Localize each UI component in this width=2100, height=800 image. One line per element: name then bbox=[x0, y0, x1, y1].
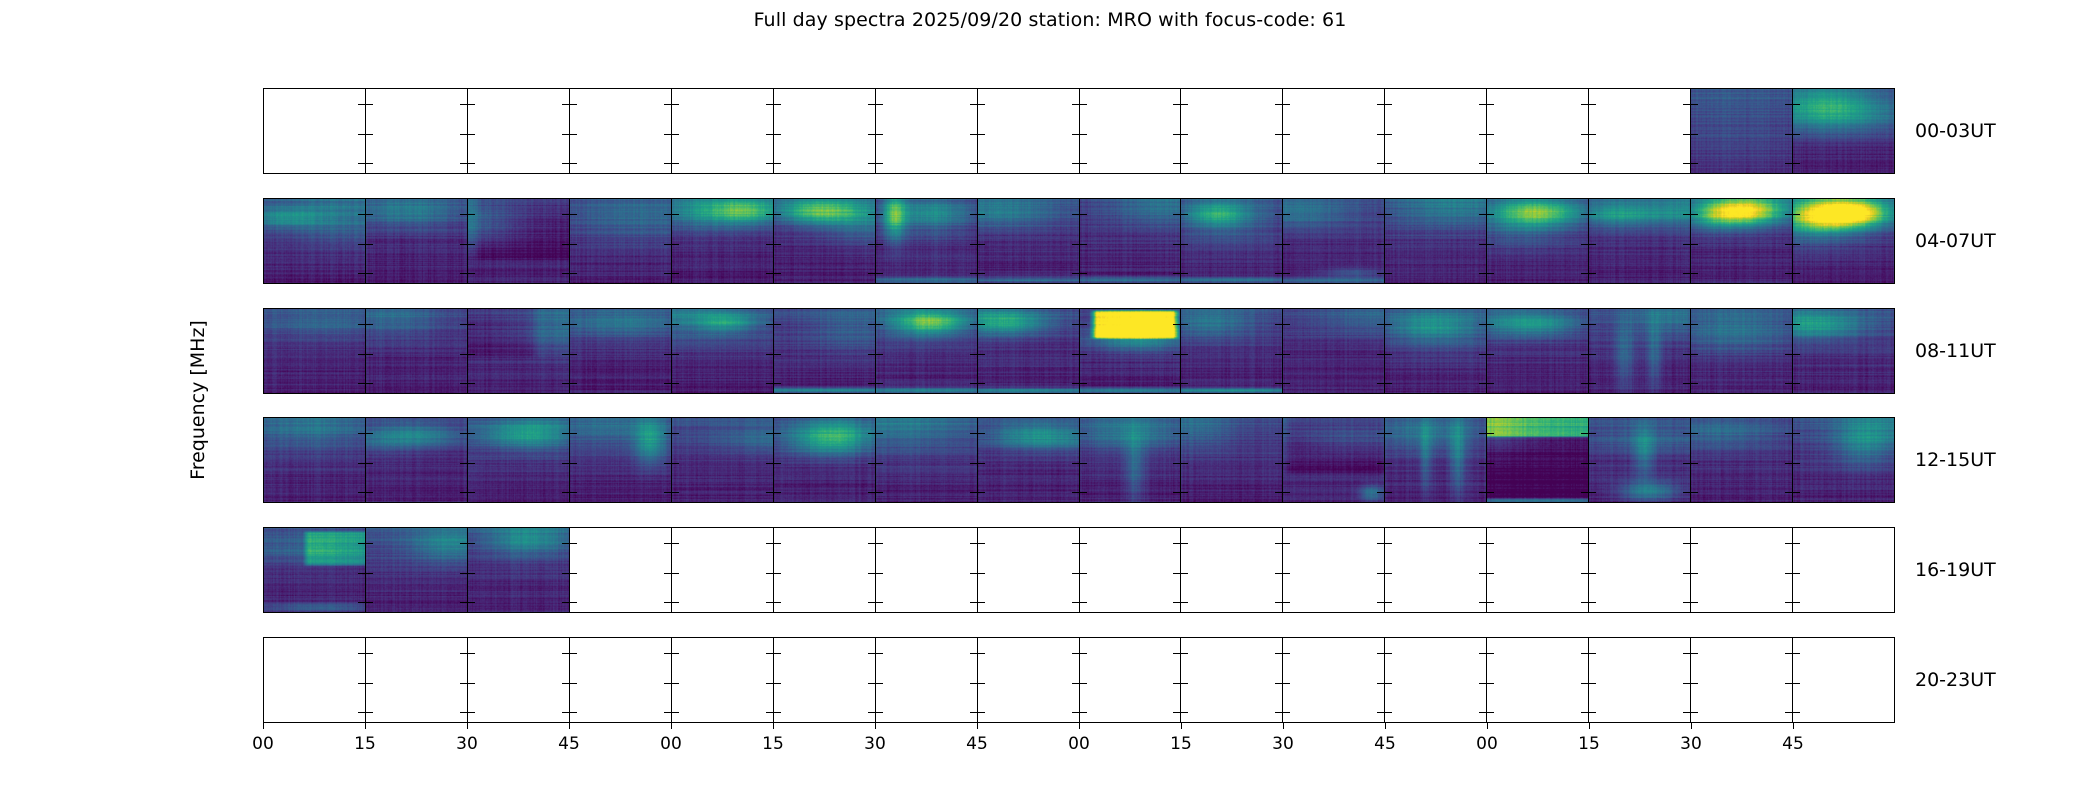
spectrogram-panel[interactable] bbox=[1690, 309, 1792, 393]
x-axis-tick-label: 00 bbox=[252, 734, 274, 754]
x-axis-tick bbox=[467, 723, 468, 729]
x-axis-tick bbox=[365, 723, 366, 729]
y-axis-inner-tick bbox=[664, 134, 671, 135]
spectrogram-panel[interactable] bbox=[773, 638, 875, 722]
y-axis-inner-tick bbox=[1793, 324, 1800, 325]
spectrogram-panel[interactable] bbox=[264, 638, 365, 722]
x-axis-tick-label: 15 bbox=[762, 734, 784, 754]
spectrogram-panel[interactable] bbox=[569, 638, 671, 722]
y-axis-inner-tick bbox=[1683, 712, 1690, 713]
y-axis-inner-tick bbox=[664, 324, 671, 325]
y-axis-inner-tick bbox=[1785, 244, 1792, 245]
spectrogram-panel[interactable] bbox=[1792, 199, 1894, 283]
spectrogram-panel[interactable] bbox=[1690, 528, 1792, 612]
y-axis-inner-tick bbox=[1275, 683, 1282, 684]
spectrogram-panel[interactable] bbox=[264, 199, 365, 283]
spectrogram-panel[interactable] bbox=[1792, 418, 1894, 502]
spectrogram-panel[interactable] bbox=[365, 89, 467, 173]
y-axis-inner-tick bbox=[1181, 104, 1188, 105]
spectrogram-panel[interactable] bbox=[977, 89, 1079, 173]
y-axis-inner-tick bbox=[1181, 383, 1188, 384]
spectrogram-panel[interactable] bbox=[1079, 638, 1181, 722]
y-axis-inner-tick bbox=[774, 653, 781, 654]
spectrogram-image bbox=[672, 418, 773, 502]
y-axis-inner-tick bbox=[1173, 492, 1180, 493]
y-axis-inner-tick bbox=[366, 602, 373, 603]
y-axis-inner-tick bbox=[366, 104, 373, 105]
spectrogram-panel[interactable] bbox=[1588, 638, 1690, 722]
y-axis-inner-tick bbox=[1377, 492, 1384, 493]
spectrogram-panel[interactable] bbox=[264, 418, 365, 502]
y-axis-inner-tick bbox=[1173, 324, 1180, 325]
y-axis-inner-tick bbox=[970, 104, 977, 105]
y-axis-inner-tick bbox=[774, 134, 781, 135]
y-axis-inner-tick bbox=[1589, 214, 1596, 215]
y-axis-inner-tick bbox=[1683, 383, 1690, 384]
spectrogram-panel[interactable] bbox=[1588, 199, 1690, 283]
y-axis-inner-tick bbox=[1181, 433, 1188, 434]
y-axis-inner-tick bbox=[1275, 653, 1282, 654]
spectrogram-image bbox=[570, 309, 671, 393]
spectrogram-panel[interactable] bbox=[1486, 418, 1588, 502]
spectrogram-panel[interactable] bbox=[1384, 89, 1486, 173]
spectrogram-panel[interactable] bbox=[467, 309, 569, 393]
spectrogram-panel[interactable] bbox=[977, 199, 1079, 283]
y-axis-inner-tick bbox=[366, 383, 373, 384]
y-axis-inner-tick bbox=[876, 543, 883, 544]
x-axis-tick-label: 00 bbox=[660, 734, 682, 754]
y-axis-inner-tick bbox=[562, 712, 569, 713]
y-axis-inner-tick bbox=[1173, 602, 1180, 603]
spectrogram-panel[interactable] bbox=[1384, 199, 1486, 283]
y-axis-inner-tick bbox=[1581, 573, 1588, 574]
y-axis-inner-tick bbox=[868, 602, 875, 603]
y-axis-tick bbox=[263, 683, 264, 684]
spectrogram-row-16-19ut: 255075 bbox=[263, 527, 1895, 613]
spectrogram-image bbox=[1181, 199, 1282, 283]
spectrogram-panel[interactable] bbox=[1384, 309, 1486, 393]
spectrogram-image bbox=[1283, 199, 1384, 283]
y-axis-inner-tick bbox=[1181, 683, 1188, 684]
y-axis-inner-tick bbox=[774, 602, 781, 603]
y-axis-inner-tick bbox=[460, 653, 467, 654]
y-axis-tick bbox=[263, 543, 264, 544]
spectrogram-panel[interactable] bbox=[1079, 418, 1181, 502]
y-axis-inner-tick bbox=[1691, 273, 1698, 274]
spectrogram-panel[interactable] bbox=[875, 638, 977, 722]
spectrogram-panel[interactable] bbox=[467, 199, 569, 283]
spectrogram-panel[interactable] bbox=[1792, 309, 1894, 393]
y-axis-inner-tick bbox=[1181, 543, 1188, 544]
y-axis-inner-tick bbox=[1080, 214, 1087, 215]
y-axis-inner-tick bbox=[1487, 244, 1494, 245]
y-axis-inner-tick bbox=[1080, 463, 1087, 464]
y-axis-inner-tick bbox=[1283, 354, 1290, 355]
y-axis-inner-tick bbox=[978, 653, 985, 654]
y-axis-inner-tick bbox=[876, 683, 883, 684]
y-axis-inner-tick bbox=[366, 543, 373, 544]
spectrogram-panel[interactable] bbox=[875, 309, 977, 393]
y-axis-inner-tick bbox=[1581, 602, 1588, 603]
spectrogram-panel[interactable] bbox=[1384, 528, 1486, 612]
y-axis-inner-tick bbox=[876, 492, 883, 493]
spectrogram-panel[interactable] bbox=[467, 89, 569, 173]
y-axis-inner-tick bbox=[1080, 433, 1087, 434]
spectrogram-panel[interactable] bbox=[671, 418, 773, 502]
y-axis-inner-tick bbox=[1181, 134, 1188, 135]
spectrogram-image bbox=[978, 199, 1079, 283]
y-axis-inner-tick bbox=[876, 324, 883, 325]
y-axis-inner-tick bbox=[562, 324, 569, 325]
y-axis-inner-tick bbox=[562, 683, 569, 684]
y-axis-inner-tick bbox=[460, 244, 467, 245]
y-axis-inner-tick bbox=[970, 433, 977, 434]
spectrogram-panel[interactable] bbox=[1079, 199, 1181, 283]
y-axis-inner-tick bbox=[672, 244, 679, 245]
spectrogram-image bbox=[1691, 418, 1792, 502]
y-axis-inner-tick bbox=[1487, 383, 1494, 384]
spectrogram-panel[interactable] bbox=[671, 309, 773, 393]
y-axis-inner-tick bbox=[1581, 433, 1588, 434]
spectrogram-panel[interactable] bbox=[1180, 89, 1282, 173]
y-axis-inner-tick bbox=[1589, 463, 1596, 464]
spectrogram-panel[interactable] bbox=[1282, 418, 1384, 502]
spectrogram-panel[interactable] bbox=[264, 528, 365, 612]
spectrogram-panel[interactable] bbox=[977, 638, 1079, 722]
spectrogram-panel[interactable] bbox=[773, 418, 875, 502]
y-axis-inner-tick bbox=[1080, 653, 1087, 654]
y-axis-inner-tick bbox=[468, 573, 475, 574]
y-axis-inner-tick bbox=[366, 163, 373, 164]
spectrogram-panel[interactable] bbox=[1282, 528, 1384, 612]
spectrogram-panel[interactable] bbox=[1690, 199, 1792, 283]
spectrogram-panel[interactable] bbox=[977, 309, 1079, 393]
spectrogram-panel[interactable] bbox=[569, 199, 671, 283]
spectrogram-panel[interactable] bbox=[1282, 309, 1384, 393]
y-axis-inner-tick bbox=[1072, 712, 1079, 713]
spectrogram-panel[interactable] bbox=[467, 528, 569, 612]
y-axis-inner-tick bbox=[468, 354, 475, 355]
spectrogram-panel[interactable] bbox=[569, 309, 671, 393]
spectrogram-panel[interactable] bbox=[1690, 89, 1792, 173]
y-axis-inner-tick bbox=[1793, 573, 1800, 574]
y-axis-inner-tick bbox=[1487, 324, 1494, 325]
y-axis-inner-tick bbox=[766, 354, 773, 355]
y-axis-inner-tick bbox=[562, 573, 569, 574]
spectrogram-image bbox=[876, 199, 977, 283]
spectrogram-figure: Full day spectra 2025/09/20 station: MRO… bbox=[0, 0, 2100, 800]
y-axis-inner-tick bbox=[570, 273, 577, 274]
y-axis-inner-tick bbox=[766, 244, 773, 245]
y-axis-inner-tick bbox=[1385, 683, 1392, 684]
y-axis-inner-tick bbox=[1691, 543, 1698, 544]
y-axis-inner-tick bbox=[978, 492, 985, 493]
y-axis-inner-tick bbox=[1377, 383, 1384, 384]
spectrogram-panel[interactable] bbox=[1486, 89, 1588, 173]
y-axis-inner-tick bbox=[1793, 543, 1800, 544]
y-axis-inner-tick bbox=[672, 602, 679, 603]
spectrogram-panel[interactable] bbox=[365, 528, 467, 612]
spectrogram-panel[interactable] bbox=[1180, 638, 1282, 722]
y-axis-inner-tick bbox=[468, 324, 475, 325]
y-axis-inner-tick bbox=[1072, 543, 1079, 544]
y-axis-inner-tick bbox=[672, 163, 679, 164]
y-axis-inner-tick bbox=[664, 104, 671, 105]
y-axis-inner-tick bbox=[1080, 134, 1087, 135]
spectrogram-panel[interactable] bbox=[773, 528, 875, 612]
y-axis-inner-tick bbox=[774, 683, 781, 684]
y-axis-inner-tick bbox=[1385, 543, 1392, 544]
spectrogram-panel[interactable] bbox=[1282, 638, 1384, 722]
spectrogram-panel[interactable] bbox=[671, 528, 773, 612]
y-axis-inner-tick bbox=[1173, 433, 1180, 434]
spectrogram-panel[interactable] bbox=[1384, 418, 1486, 502]
y-axis-inner-tick bbox=[1080, 273, 1087, 274]
y-axis-inner-tick bbox=[970, 653, 977, 654]
y-axis-inner-tick bbox=[766, 273, 773, 274]
spectrogram-image bbox=[774, 199, 875, 283]
y-axis-inner-tick bbox=[1173, 463, 1180, 464]
spectrogram-panel[interactable] bbox=[671, 199, 773, 283]
spectrogram-image bbox=[264, 309, 365, 393]
spectrogram-panel[interactable] bbox=[875, 528, 977, 612]
spectrogram-panel[interactable] bbox=[569, 528, 671, 612]
spectrogram-panel[interactable] bbox=[875, 89, 977, 173]
y-axis-inner-tick bbox=[672, 214, 679, 215]
spectrogram-panel[interactable] bbox=[1282, 89, 1384, 173]
y-axis-inner-tick bbox=[468, 244, 475, 245]
y-axis-inner-tick bbox=[1283, 573, 1290, 574]
spectrogram-panel[interactable] bbox=[1180, 528, 1282, 612]
y-axis-inner-tick bbox=[876, 134, 883, 135]
y-axis-inner-tick bbox=[1385, 273, 1392, 274]
spectrogram-panel[interactable] bbox=[1180, 199, 1282, 283]
x-axis-tick-label: 15 bbox=[354, 734, 376, 754]
y-axis-inner-tick bbox=[562, 543, 569, 544]
y-axis-inner-tick bbox=[1173, 104, 1180, 105]
spectrogram-panel[interactable] bbox=[1792, 528, 1894, 612]
y-axis-inner-tick bbox=[570, 463, 577, 464]
y-axis-inner-tick bbox=[1683, 354, 1690, 355]
spectrogram-panel[interactable] bbox=[875, 199, 977, 283]
y-axis-inner-tick bbox=[1581, 492, 1588, 493]
y-axis-inner-tick bbox=[562, 104, 569, 105]
y-axis-inner-tick bbox=[970, 163, 977, 164]
spectrogram-image bbox=[774, 418, 875, 502]
spectrogram-panel[interactable] bbox=[569, 418, 671, 502]
spectrogram-panel[interactable] bbox=[264, 309, 365, 393]
spectrogram-image bbox=[1181, 418, 1282, 502]
y-axis-inner-tick bbox=[358, 163, 365, 164]
spectrogram-panel[interactable] bbox=[977, 418, 1079, 502]
y-axis-inner-tick bbox=[1377, 134, 1384, 135]
y-axis-inner-tick bbox=[766, 163, 773, 164]
spectrogram-panel[interactable] bbox=[1079, 309, 1181, 393]
y-axis-inner-tick bbox=[1385, 163, 1392, 164]
y-axis-inner-tick bbox=[1589, 324, 1596, 325]
y-axis-inner-tick bbox=[664, 543, 671, 544]
spectrogram-panel[interactable] bbox=[467, 418, 569, 502]
spectrogram-panel[interactable] bbox=[1486, 199, 1588, 283]
spectrogram-panel[interactable] bbox=[1588, 309, 1690, 393]
y-axis-inner-tick bbox=[1283, 712, 1290, 713]
y-axis-inner-tick bbox=[1173, 354, 1180, 355]
y-axis-inner-tick bbox=[766, 134, 773, 135]
spectrogram-image bbox=[1487, 199, 1588, 283]
spectrogram-panel[interactable] bbox=[1690, 418, 1792, 502]
y-axis-inner-tick bbox=[664, 712, 671, 713]
y-axis-inner-tick bbox=[1173, 134, 1180, 135]
y-axis-inner-tick bbox=[1283, 683, 1290, 684]
y-axis-inner-tick bbox=[978, 602, 985, 603]
x-axis-tick bbox=[1793, 723, 1794, 729]
y-axis-inner-tick bbox=[1385, 324, 1392, 325]
y-axis-inner-tick bbox=[468, 602, 475, 603]
spectrogram-panel[interactable] bbox=[467, 638, 569, 722]
y-axis-inner-tick bbox=[672, 354, 679, 355]
y-axis-inner-tick bbox=[1793, 492, 1800, 493]
y-axis-inner-tick bbox=[1080, 104, 1087, 105]
y-axis-tick bbox=[263, 163, 264, 164]
y-axis-inner-tick bbox=[1072, 463, 1079, 464]
y-axis-inner-tick bbox=[1581, 104, 1588, 105]
spectrogram-image bbox=[1080, 418, 1181, 502]
spectrogram-panel[interactable] bbox=[1792, 638, 1894, 722]
y-axis-inner-tick bbox=[1793, 244, 1800, 245]
spectrogram-panel[interactable] bbox=[1079, 89, 1181, 173]
spectrogram-image bbox=[1793, 418, 1894, 502]
y-axis-inner-tick bbox=[1275, 573, 1282, 574]
spectrogram-panel[interactable] bbox=[875, 418, 977, 502]
spectrogram-panel[interactable] bbox=[671, 638, 773, 722]
y-axis-inner-tick bbox=[868, 354, 875, 355]
spectrogram-panel[interactable] bbox=[264, 89, 365, 173]
y-axis-inner-tick bbox=[570, 492, 577, 493]
y-axis-inner-tick bbox=[1589, 433, 1596, 434]
spectrogram-panel[interactable] bbox=[773, 309, 875, 393]
spectrogram-image bbox=[468, 199, 569, 283]
spectrogram-panel[interactable] bbox=[1792, 89, 1894, 173]
x-axis-tick bbox=[1079, 723, 1080, 729]
y-axis-inner-tick bbox=[1581, 383, 1588, 384]
spectrogram-panel[interactable] bbox=[1588, 418, 1690, 502]
spectrogram-panel[interactable] bbox=[1180, 418, 1282, 502]
x-axis-tick bbox=[1385, 723, 1386, 729]
y-axis-inner-tick bbox=[1479, 683, 1486, 684]
y-axis-inner-tick bbox=[876, 163, 883, 164]
spectrogram-panel[interactable] bbox=[365, 309, 467, 393]
y-axis-inner-tick bbox=[358, 573, 365, 574]
y-axis-inner-tick bbox=[1589, 573, 1596, 574]
y-axis-inner-tick bbox=[766, 214, 773, 215]
y-axis-inner-tick bbox=[1072, 214, 1079, 215]
y-axis-inner-tick bbox=[358, 712, 365, 713]
y-axis-inner-tick bbox=[1377, 433, 1384, 434]
y-axis-tick bbox=[263, 324, 264, 325]
y-axis-inner-tick bbox=[1377, 163, 1384, 164]
y-axis-inner-tick bbox=[1793, 354, 1800, 355]
y-axis-inner-tick bbox=[460, 433, 467, 434]
x-axis-tick bbox=[263, 723, 264, 729]
y-axis-inner-tick bbox=[868, 244, 875, 245]
y-axis-inner-tick bbox=[978, 244, 985, 245]
y-axis-inner-tick bbox=[1385, 134, 1392, 135]
spectrogram-panel[interactable] bbox=[1282, 199, 1384, 283]
spectrogram-panel[interactable] bbox=[1486, 528, 1588, 612]
y-axis-inner-tick bbox=[358, 433, 365, 434]
y-axis-inner-tick bbox=[766, 104, 773, 105]
spectrogram-panel[interactable] bbox=[671, 89, 773, 173]
y-axis-inner-tick bbox=[1785, 163, 1792, 164]
y-axis-inner-tick bbox=[1683, 273, 1690, 274]
y-axis-inner-tick bbox=[570, 104, 577, 105]
y-axis-inner-tick bbox=[1181, 653, 1188, 654]
spectrogram-panel[interactable] bbox=[1486, 638, 1588, 722]
y-axis-inner-tick bbox=[876, 602, 883, 603]
y-axis-inner-tick bbox=[1072, 573, 1079, 574]
spectrogram-image bbox=[468, 528, 569, 612]
y-axis-inner-tick bbox=[460, 134, 467, 135]
y-axis-inner-tick bbox=[1080, 244, 1087, 245]
spectrogram-panel[interactable] bbox=[1486, 309, 1588, 393]
y-axis-inner-tick bbox=[1793, 712, 1800, 713]
y-axis-inner-tick bbox=[876, 354, 883, 355]
y-axis-inner-tick bbox=[1487, 104, 1494, 105]
spectrogram-panel[interactable] bbox=[365, 638, 467, 722]
y-axis-inner-tick bbox=[1589, 354, 1596, 355]
panel-strip bbox=[264, 89, 1894, 173]
spectrogram-panel[interactable] bbox=[365, 199, 467, 283]
spectrogram-panel[interactable] bbox=[1384, 638, 1486, 722]
y-axis-inner-tick bbox=[1691, 492, 1698, 493]
spectrogram-image bbox=[1080, 199, 1181, 283]
y-axis-inner-tick bbox=[1691, 383, 1698, 384]
y-axis-inner-tick bbox=[1283, 104, 1290, 105]
spectrogram-panel[interactable] bbox=[977, 528, 1079, 612]
y-axis-inner-tick bbox=[1072, 683, 1079, 684]
y-axis-inner-tick bbox=[1683, 163, 1690, 164]
y-axis-inner-tick bbox=[366, 463, 373, 464]
y-axis-inner-tick bbox=[1487, 463, 1494, 464]
y-axis-inner-tick bbox=[562, 383, 569, 384]
y-axis-inner-tick bbox=[1683, 492, 1690, 493]
y-axis-inner-tick bbox=[1080, 573, 1087, 574]
spectrogram-image bbox=[1691, 199, 1792, 283]
y-axis-inner-tick bbox=[1487, 354, 1494, 355]
y-axis-inner-tick bbox=[1581, 214, 1588, 215]
y-axis-inner-tick bbox=[672, 573, 679, 574]
spectrogram-panel[interactable] bbox=[1588, 528, 1690, 612]
spectrogram-panel[interactable] bbox=[1588, 89, 1690, 173]
y-axis-inner-tick bbox=[664, 573, 671, 574]
y-axis-inner-tick bbox=[1275, 712, 1282, 713]
row-label-12-15ut: 12-15UT bbox=[1915, 449, 1996, 471]
y-axis-inner-tick bbox=[1479, 273, 1486, 274]
y-axis-inner-tick bbox=[1385, 712, 1392, 713]
y-axis-inner-tick bbox=[366, 214, 373, 215]
y-axis-inner-tick bbox=[1479, 244, 1486, 245]
spectrogram-image bbox=[876, 309, 977, 393]
spectrogram-panel[interactable] bbox=[569, 89, 671, 173]
spectrogram-panel[interactable] bbox=[773, 199, 875, 283]
spectrogram-panel[interactable] bbox=[365, 418, 467, 502]
spectrogram-panel[interactable] bbox=[773, 89, 875, 173]
spectrogram-panel[interactable] bbox=[1690, 638, 1792, 722]
y-axis-inner-tick bbox=[664, 214, 671, 215]
y-axis-inner-tick bbox=[1691, 354, 1698, 355]
spectrogram-panel[interactable] bbox=[1180, 309, 1282, 393]
spectrogram-panel[interactable] bbox=[1079, 528, 1181, 612]
